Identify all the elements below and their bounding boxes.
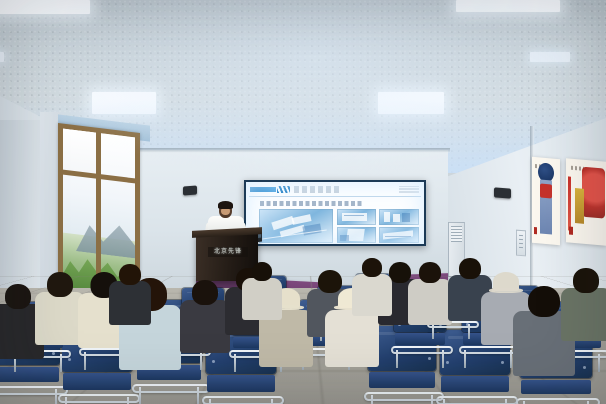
- chair-leg: [431, 395, 433, 404]
- wall-poster-right: [566, 158, 606, 245]
- slide-header: [246, 184, 424, 195]
- ceiling-light-far-left: [0, 52, 4, 62]
- wall-control-panel[interactable]: [516, 230, 526, 257]
- attendee-head: [47, 272, 73, 297]
- attendee-head: [362, 258, 382, 277]
- chair-frame-rail: [0, 386, 68, 395]
- attendee-head: [252, 262, 272, 281]
- slide-photo-1: [337, 209, 376, 225]
- ceiling-light-top-right: [456, 0, 560, 12]
- attendee-torso: [561, 288, 606, 341]
- chair-seat: [441, 376, 508, 392]
- attendee-torso: [352, 274, 392, 316]
- chair-seat: [63, 373, 130, 389]
- chair-leg: [55, 389, 57, 404]
- chair-leg: [598, 354, 600, 372]
- wall-speaker-right-icon: [494, 187, 511, 198]
- chair-leg: [139, 387, 141, 404]
- presenter-hair: [218, 201, 233, 209]
- poster-right-seal: [569, 227, 573, 235]
- chair-leg: [443, 399, 445, 404]
- attendee-torso: [180, 300, 230, 353]
- podium-name-plate: 北京先锋: [208, 247, 248, 257]
- poster-right-figure: [575, 188, 585, 224]
- poster-left-red-accent: [540, 183, 551, 198]
- slide-logo-icon: [277, 186, 290, 193]
- attendee-11: [408, 262, 452, 344]
- chair-leg: [442, 350, 444, 368]
- chair-leg: [371, 395, 373, 404]
- attendee-head: [119, 264, 141, 285]
- attendee-torso: [109, 281, 151, 325]
- attendee-15: [561, 268, 606, 354]
- slide-subtitle-text: [260, 201, 364, 206]
- chair-seat: [369, 372, 434, 388]
- attendee-torso: [242, 278, 282, 320]
- attendee-head: [419, 262, 441, 283]
- attendee-head: [192, 280, 218, 305]
- attendee-head: [459, 258, 481, 279]
- presentation-slide: [246, 182, 424, 244]
- ac-vent-grille: [451, 226, 462, 242]
- slide-photo-4: [379, 227, 419, 243]
- attendee-torso: [408, 279, 452, 325]
- attendee-17: [352, 258, 392, 338]
- chair-leg: [197, 387, 199, 404]
- chair-leg: [65, 397, 67, 404]
- wall-poster-left: [532, 157, 560, 245]
- attendee-5: [180, 280, 230, 366]
- chair-seat: [207, 375, 274, 391]
- slide-divider: [249, 196, 421, 197]
- slide-photo-2: [379, 209, 419, 225]
- poster-right-festive-art: [582, 166, 605, 218]
- chair-leg: [271, 399, 273, 404]
- poster-right-stripe: [568, 177, 572, 231]
- wall-speaker-left-icon: [183, 186, 197, 196]
- chair-leg: [234, 354, 236, 372]
- poster-left-seal: [534, 227, 537, 235]
- ceiling-light-top-left: [0, 0, 90, 14]
- chair-leg: [464, 350, 466, 368]
- attendee-18: [109, 264, 151, 346]
- slide-header-right-text: [399, 186, 419, 193]
- projection-screen: [244, 180, 426, 246]
- slide-title-text: [294, 186, 340, 193]
- photo-scene: 北京先锋: [0, 0, 606, 404]
- attendee-head: [5, 284, 31, 309]
- attendee-16: [242, 262, 282, 342]
- chair-leg: [396, 350, 398, 368]
- ceiling-light-far-right: [530, 52, 570, 62]
- slide-photo-3: [337, 227, 376, 243]
- slide-photo-aerial: [259, 209, 333, 243]
- attendee-head: [573, 268, 599, 293]
- chair-leg: [209, 399, 211, 404]
- chair-leg: [127, 397, 129, 404]
- attendee-head: [528, 286, 560, 317]
- slide-brand-bar: [250, 187, 276, 192]
- wall-ceiling-joint: [118, 148, 450, 153]
- chair-leg: [505, 399, 507, 404]
- chair-seat: [521, 380, 590, 395]
